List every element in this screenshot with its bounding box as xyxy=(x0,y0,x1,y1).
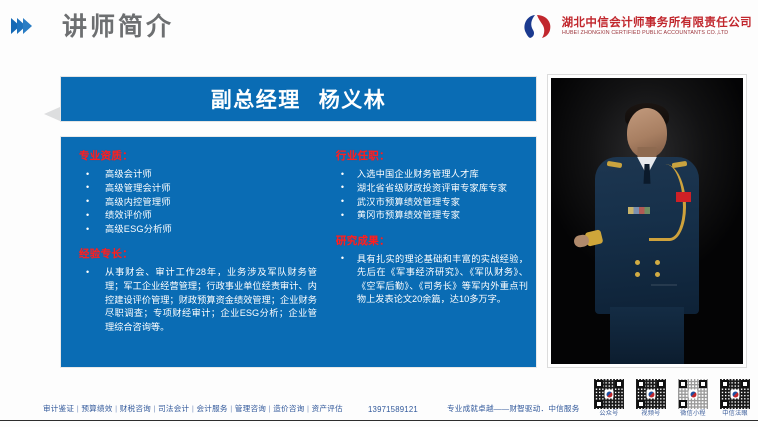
list-item: 湖北省省级财政投资评审专家库专家 xyxy=(332,182,528,195)
footer-separator: | xyxy=(269,404,271,413)
list-item: 武汉市预算绩效管理专家 xyxy=(332,196,528,209)
footer-service-item: 管理咨询 xyxy=(235,404,266,413)
footer-separator: | xyxy=(115,404,117,413)
footer-service-list: 审计鉴证|预算绩效|财税咨询|司法会计|会计服务|管理咨询|造价咨询|资产评估 xyxy=(43,403,343,414)
list-item: 高级ESG分析师 xyxy=(75,223,317,236)
qr-item[interactable]: 视频号 xyxy=(634,379,668,418)
footer-divider xyxy=(0,420,758,422)
slide-header: 讲师简介 湖北中信会计师事务所有限责任公司 HUBEI ZHONGXIN CER… xyxy=(0,0,758,56)
company-name-en: HUBEI ZHONGXIN CERTIFIED PUBLIC ACCOUNTA… xyxy=(562,31,756,36)
qualifications-list: 高级会计师 高级管理会计师 高级内控管理师 绩效评价师 高级ESG分析师 xyxy=(75,168,317,236)
section-title-qualifications: 专业资质： xyxy=(79,148,317,163)
company-logo-text: 湖北中信会计师事务所有限责任公司 HUBEI ZHONGXIN CERTIFIE… xyxy=(562,18,752,37)
portrait-crossed-arms xyxy=(599,230,695,252)
profile-column-left: 专业资质： 高级会计师 高级管理会计师 高级内控管理师 绩效评价师 高级ESG分… xyxy=(61,137,325,367)
portrait-pocket-line xyxy=(651,284,677,286)
list-item: 具有扎实的理论基础和丰富的实战经验，先后在《军事经济研究》、《军队财务》、《空军… xyxy=(332,253,528,307)
experience-list: 从事财会、审计工作28年，业务涉及军队财务管理；军工企业经营管理；行政事业单位经… xyxy=(75,266,317,334)
footer-qr-codes: 公众号 视频号 微信小程 中信法眼 xyxy=(592,379,752,418)
qr-item[interactable]: 中信法眼 xyxy=(718,379,752,418)
list-item: 绩效评价师 xyxy=(75,209,317,222)
qr-label: 公众号 xyxy=(592,410,626,418)
instructor-name: 杨义林 xyxy=(319,89,387,112)
portrait-medal-ribbons xyxy=(628,207,650,214)
qr-item[interactable]: 公众号 xyxy=(592,379,626,418)
profile-column-right: 行业任职： 入选中国企业财务管理人才库 湖北省省级财政投资评审专家库专家 武汉市… xyxy=(325,137,536,367)
instructor-role: 副总经理 xyxy=(211,89,301,112)
qr-label: 中信法眼 xyxy=(718,410,752,418)
slide-footer: 审计鉴证|预算绩效|财税咨询|司法会计|会计服务|管理咨询|造价咨询|资产评估 … xyxy=(0,378,758,427)
company-swirl-logo-icon xyxy=(520,12,556,42)
instructor-title-name: 副总经理杨义林 xyxy=(211,84,387,114)
footer-slogan: 专业成就卓越——财智驱动．中信服务 xyxy=(447,403,580,414)
qr-item[interactable]: 微信小程 xyxy=(676,379,710,418)
qr-code-icon xyxy=(678,379,708,409)
portrait-button xyxy=(655,260,660,265)
instructor-portrait xyxy=(551,78,743,364)
qr-code-icon xyxy=(594,379,624,409)
list-item: 从事财会、审计工作28年，业务涉及军队财务管理；军工企业经营管理；行政事业单位经… xyxy=(75,266,317,334)
appointments-list: 入选中国企业财务管理人才库 湖北省省级财政投资评审专家库专家 武汉市预算绩效管理… xyxy=(332,168,528,223)
footer-service-item: 资产评估 xyxy=(312,404,343,413)
footer-service-item: 审计鉴证 xyxy=(43,404,74,413)
list-item: 高级管理会计师 xyxy=(75,182,317,195)
section-title-research: 研究成果： xyxy=(336,233,528,248)
footer-service-item: 司法会计 xyxy=(158,404,189,413)
section-title-experience: 经验专长： xyxy=(79,246,317,261)
profile-panel: 专业资质： 高级会计师 高级管理会计师 高级内控管理师 绩效评价师 高级ESG分… xyxy=(60,136,537,368)
footer-service-item: 造价咨询 xyxy=(273,404,304,413)
footer-separator: | xyxy=(153,404,155,413)
company-logo: 湖北中信会计师事务所有限责任公司 HUBEI ZHONGXIN CERTIFIE… xyxy=(520,12,752,42)
instructor-name-banner: 副总经理杨义林 xyxy=(60,76,537,122)
slide-root: 讲师简介 湖北中信会计师事务所有限责任公司 HUBEI ZHONGXIN CER… xyxy=(0,0,758,427)
instructor-photo-frame xyxy=(547,74,747,368)
portrait-flag-patch xyxy=(676,192,691,202)
list-item: 高级内控管理师 xyxy=(75,196,317,209)
footer-separator: | xyxy=(307,404,309,413)
footer-separator: | xyxy=(192,404,194,413)
section-title-appointments: 行业任职： xyxy=(336,148,528,163)
chevron-right-icon-3 xyxy=(23,18,32,34)
footer-service-item: 预算绩效 xyxy=(81,404,112,413)
qr-code-icon xyxy=(720,379,750,409)
chevrons-right-icon xyxy=(11,18,29,34)
page-title: 讲师简介 xyxy=(62,10,174,44)
footer-service-item: 财税咨询 xyxy=(120,404,151,413)
research-list: 具有扎实的理论基础和丰富的实战经验，先后在《军事经济研究》、《军队财务》、《空军… xyxy=(332,253,528,307)
footer-service-item: 会计服务 xyxy=(197,404,228,413)
list-item: 入选中国企业财务管理人才库 xyxy=(332,168,528,181)
footer-phone: 13971589121 xyxy=(368,405,418,414)
footer-separator: | xyxy=(77,404,79,413)
left-arrow-decoration xyxy=(44,107,60,121)
portrait-hand xyxy=(573,234,590,248)
list-item: 高级会计师 xyxy=(75,168,317,181)
list-item: 黄冈市预算绩效管理专家 xyxy=(332,209,528,222)
portrait-trousers xyxy=(610,307,684,364)
company-name-cn: 湖北中信会计师事务所有限责任公司 xyxy=(562,18,752,30)
footer-separator: | xyxy=(230,404,232,413)
qr-label: 视频号 xyxy=(634,410,668,418)
qr-code-icon xyxy=(636,379,666,409)
qr-label: 微信小程 xyxy=(676,410,710,418)
